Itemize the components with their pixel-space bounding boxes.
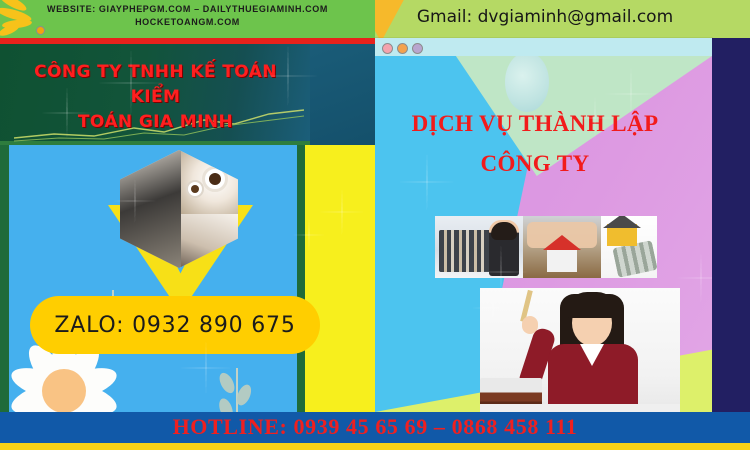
right-panel: Gmail: dvgiaminh@gmail.com DỊCH VỤ THÀNH… [375, 0, 750, 450]
bottom-yellow-strip [0, 443, 750, 450]
smiling-woman-photo [480, 288, 680, 412]
yellow-vertical-strip [305, 145, 375, 412]
teal-corner-block [310, 44, 375, 145]
navy-side-strip [712, 38, 750, 412]
browser-title-bar [375, 38, 712, 56]
left-panel: WEBSITE: GIAYPHEPGM.COM – DAILYTHUEGIAMI… [0, 0, 375, 450]
zalo-contact-badge[interactable]: ZALO: 0932 890 675 [30, 296, 320, 354]
zalo-label: ZALO: 0932 890 675 [54, 313, 295, 338]
browser-canvas: DỊCH VỤ THÀNH LẬP CÔNG TY [375, 56, 712, 412]
service-title-line-2: CÔNG TY [375, 144, 695, 184]
hands-house-model-photo [523, 216, 601, 278]
hotline-text: HOTLINE: 0939 45 65 69 – 0868 458 111 [0, 414, 750, 440]
service-title: DỊCH VỤ THÀNH LẬP CÔNG TY [375, 104, 695, 184]
browser-dot-maximize-icon[interactable] [412, 43, 423, 54]
house-calculator-photo [601, 216, 657, 278]
website-line-1: WEBSITE: GIAYPHEPGM.COM – DAILYTHUEGIAMI… [0, 3, 375, 16]
browser-window-card: DỊCH VỤ THÀNH LẬP CÔNG TY [375, 38, 712, 412]
company-name: CÔNG TY TNHH KẾ TOÁN KIỂM TOÁN GIA MINH [8, 60, 303, 135]
browser-dot-minimize-icon[interactable] [397, 43, 408, 54]
gmail-label: Gmail: dvgiaminh@gmail.com [375, 7, 715, 27]
right-green-edge-strip [297, 145, 305, 412]
browser-dot-close-icon[interactable] [382, 43, 393, 54]
poster-root: WEBSITE: GIAYPHEPGM.COM – DAILYTHUEGIAMI… [0, 0, 750, 450]
service-title-line-1: DỊCH VỤ THÀNH LẬP [375, 104, 695, 144]
company-name-line-2: TOÁN GIA MINH [8, 110, 303, 135]
website-line-2: HOCKETOANGM.COM [0, 16, 375, 29]
business-team-photo [435, 216, 523, 278]
company-name-line-1: CÔNG TY TNHH KẾ TOÁN KIỂM [8, 60, 303, 110]
service-photo-row [435, 216, 657, 278]
website-header-text: WEBSITE: GIAYPHEPGM.COM – DAILYTHUEGIAMI… [0, 3, 375, 29]
